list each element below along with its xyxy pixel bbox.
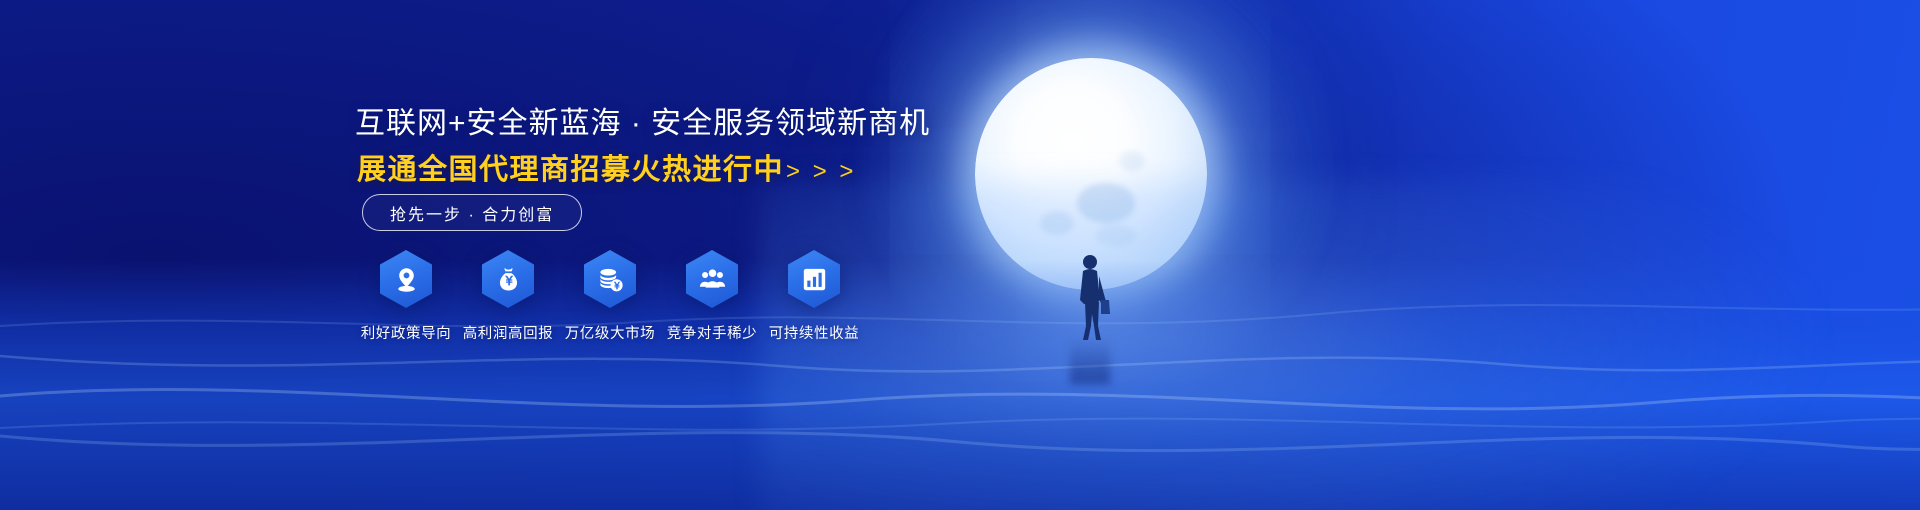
feature-item[interactable]: 利好政策导向 [355, 250, 457, 343]
headline-primary: 互联网+安全新蓝海 · 安全服务领域新商机 [355, 98, 930, 142]
feature-item[interactable]: 高利润高回报 [457, 250, 559, 343]
feature-item[interactable]: 可持续性收益 [763, 250, 865, 343]
arrow-chevrons-icon: > > > [786, 158, 856, 185]
feature-item[interactable]: 万亿级大市场 [559, 250, 661, 343]
feature-label: 可持续性收益 [769, 322, 860, 343]
bar-chart-icon [788, 250, 840, 308]
hexagon-badge [482, 250, 534, 308]
hexagon-badge [788, 250, 840, 308]
cta-pill-button[interactable]: 抢先一步 · 合力创富 [362, 194, 582, 231]
hexagon-badge [584, 250, 636, 308]
feature-list: 利好政策导向 高利润高回报 [355, 250, 865, 343]
promo-banner: 互联网+安全新蓝海 · 安全服务领域新商机 展通全国代理商招募火热进行中> > … [0, 0, 1920, 510]
feature-label: 利好政策导向 [361, 322, 452, 343]
feature-label: 竞争对手稀少 [667, 322, 758, 343]
money-bag-yen-icon [482, 250, 534, 308]
feature-item[interactable]: 竞争对手稀少 [661, 250, 763, 343]
people-group-icon [686, 250, 738, 308]
headline-secondary: 展通全国代理商招募火热进行中> > > [357, 146, 856, 188]
banner-content: 互联网+安全新蓝海 · 安全服务领域新商机 展通全国代理商招募火热进行中> > … [0, 0, 1920, 510]
location-pin-icon [380, 250, 432, 308]
hexagon-badge [686, 250, 738, 308]
feature-label: 高利润高回报 [463, 322, 554, 343]
coin-stack-yen-icon [584, 250, 636, 308]
feature-label: 万亿级大市场 [565, 322, 656, 343]
headline-secondary-text: 展通全国代理商招募火热进行中 [357, 154, 784, 186]
hexagon-badge [380, 250, 432, 308]
